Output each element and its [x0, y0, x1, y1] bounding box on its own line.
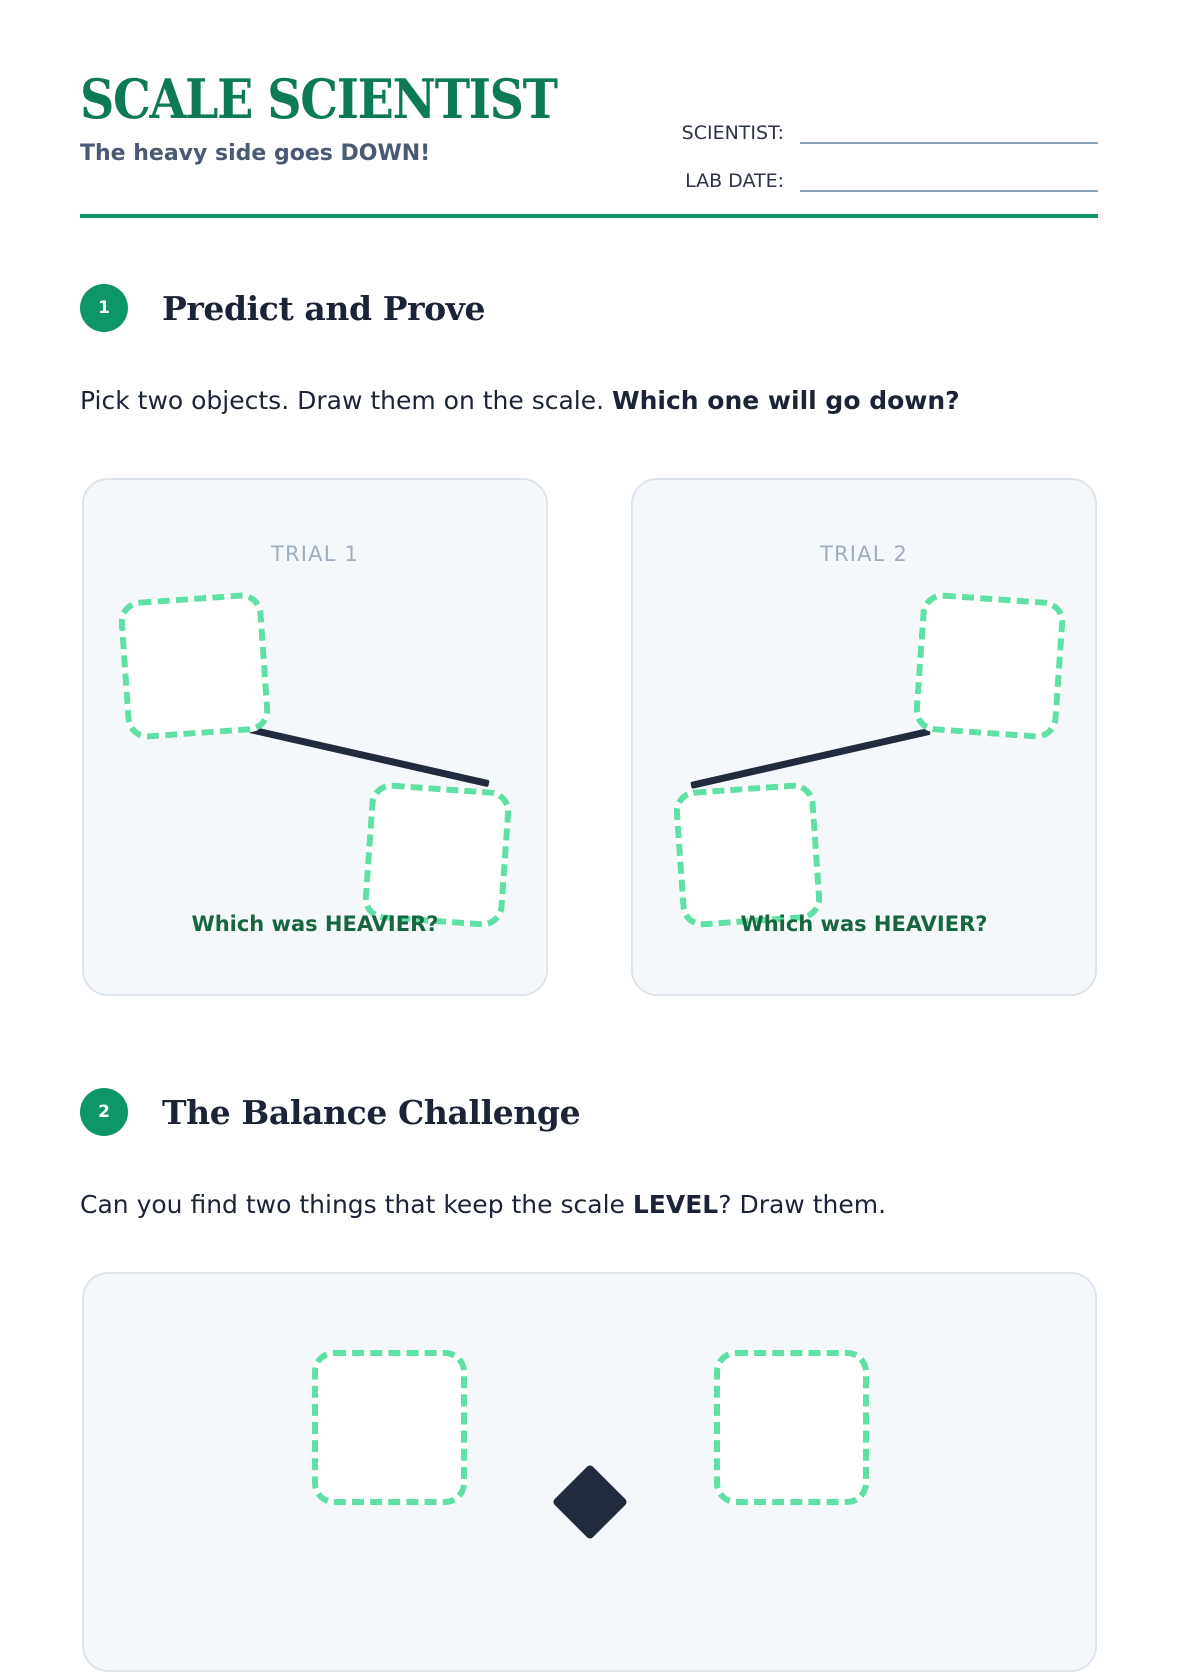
balance-beam-icon: [690, 728, 930, 789]
trial-1-card[interactable]: TRIAL 1 Which was HEAVIER?: [82, 478, 548, 996]
balance-left-drop-box[interactable]: [312, 1350, 467, 1505]
lab-date-input-line[interactable]: [800, 190, 1098, 192]
section-2-title: The Balance Challenge: [162, 1093, 580, 1132]
lab-date-field-label: LAB DATE:: [685, 170, 784, 198]
trial-1-label: TRIAL 1: [84, 542, 546, 566]
balance-challenge-card[interactable]: [82, 1272, 1097, 1672]
section-2-prompt: Can you find two things that keep the sc…: [80, 1190, 886, 1219]
balance-beam-icon: [249, 726, 489, 787]
page-title: SCALE SCIENTIST: [80, 70, 557, 128]
trial-2-right-drop-box[interactable]: [912, 591, 1066, 741]
step-number-badge-1: 1: [80, 284, 128, 332]
lab-date-field-row: LAB DATE:: [648, 150, 1098, 198]
section-2-heading: 2 The Balance Challenge: [80, 1088, 580, 1136]
trial-2-left-drop-box[interactable]: [672, 781, 823, 929]
scientist-field-row: SCIENTIST:: [648, 102, 1098, 150]
section-1-heading: 1 Predict and Prove: [80, 284, 485, 332]
trial-1-left-drop-box[interactable]: [117, 591, 271, 741]
section-2-prompt-before: Can you find two things that keep the sc…: [80, 1190, 633, 1219]
page-subtitle: The heavy side goes DOWN!: [80, 140, 622, 168]
trial-1-question: Which was HEAVIER?: [84, 912, 546, 936]
scientist-input-line[interactable]: [800, 142, 1098, 144]
trial-2-question: Which was HEAVIER?: [633, 912, 1095, 936]
trial-2-label: TRIAL 2: [633, 542, 1095, 566]
scientist-field-label: SCIENTIST:: [682, 122, 784, 150]
section-1-prompt-normal: Pick two objects. Draw them on the scale…: [80, 386, 612, 415]
section-2-prompt-bold: LEVEL: [633, 1190, 718, 1219]
header-divider: [80, 214, 1098, 218]
balance-right-drop-box[interactable]: [714, 1350, 869, 1505]
section-2-prompt-after: ? Draw them.: [718, 1190, 886, 1219]
section-1-title: Predict and Prove: [162, 289, 485, 328]
student-info-block: SCIENTIST: LAB DATE:: [648, 102, 1098, 198]
title-block: SCALE SCIENTIST The heavy side goes DOWN…: [80, 70, 622, 168]
step-number-badge-2: 2: [80, 1088, 128, 1136]
diamond-fulcrum-icon: [552, 1464, 628, 1540]
worksheet-header: SCALE SCIENTIST The heavy side goes DOWN…: [80, 70, 1098, 220]
section-1-prompt-bold: Which one will go down?: [612, 386, 960, 415]
section-1-prompt: Pick two objects. Draw them on the scale…: [80, 386, 960, 415]
trial-1-right-drop-box[interactable]: [361, 781, 512, 929]
trial-2-card[interactable]: TRIAL 2 Which was HEAVIER?: [631, 478, 1097, 996]
